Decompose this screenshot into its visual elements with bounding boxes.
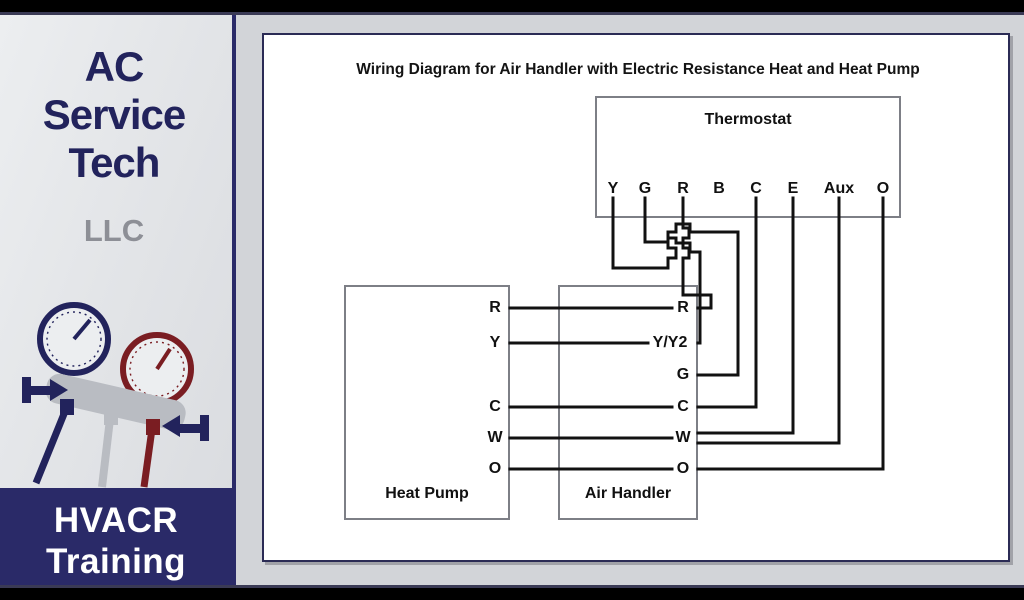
thermostat-terminal-e[interactable]: E <box>788 180 799 198</box>
heat-pump-terminal-o[interactable]: O <box>489 460 501 478</box>
heat-pump-label: Heat Pump <box>346 485 508 503</box>
diagram-title: Wiring Diagram for Air Handler with Elec… <box>280 61 996 79</box>
thermostat-terminal-aux[interactable]: Aux <box>824 180 854 198</box>
heat-pump-box: Heat Pump <box>344 285 510 520</box>
brand-suffix: LLC <box>0 213 228 249</box>
heat-pump-terminal-r[interactable]: R <box>489 299 501 317</box>
brand-panel: AC Service Tech LLC <box>0 15 232 585</box>
thermostat-terminal-b[interactable]: B <box>713 180 725 198</box>
air-handler-terminal-y-y2[interactable]: Y/Y2 <box>653 334 688 352</box>
heat-pump-terminal-y[interactable]: Y <box>490 334 501 352</box>
letterbox-bottom-bar <box>0 588 1024 600</box>
thermostat-terminal-g[interactable]: G <box>639 180 651 198</box>
letterbox-top-bar <box>0 0 1024 12</box>
brand-footer-text: HVACR Training <box>0 488 232 582</box>
thermostat-terminal-r[interactable]: R <box>677 180 689 198</box>
thermostat-box: Thermostat <box>595 96 901 218</box>
brand-footer-banner: HVACR Training <box>0 488 232 600</box>
thermostat-terminal-c[interactable]: C <box>750 180 762 198</box>
thermostat-terminal-y[interactable]: Y <box>608 180 619 198</box>
air-handler-terminal-g[interactable]: G <box>677 366 689 384</box>
screenshot-stage: AC Service Tech LLC <box>0 0 1024 600</box>
thermostat-terminal-o[interactable]: O <box>877 180 889 198</box>
thermostat-label: Thermostat <box>597 111 899 129</box>
air-handler-terminal-r[interactable]: R <box>677 299 689 317</box>
brand-name: AC Service Tech <box>0 43 228 187</box>
air-handler-terminal-c[interactable]: C <box>677 398 689 416</box>
heat-pump-terminal-w[interactable]: W <box>487 429 502 447</box>
air-handler-terminal-o[interactable]: O <box>677 460 689 478</box>
manifold-gauge-set-icon <box>10 287 222 492</box>
air-handler-terminal-w[interactable]: W <box>675 429 690 447</box>
heat-pump-terminal-c[interactable]: C <box>489 398 501 416</box>
air-handler-label: Air Handler <box>560 485 696 503</box>
